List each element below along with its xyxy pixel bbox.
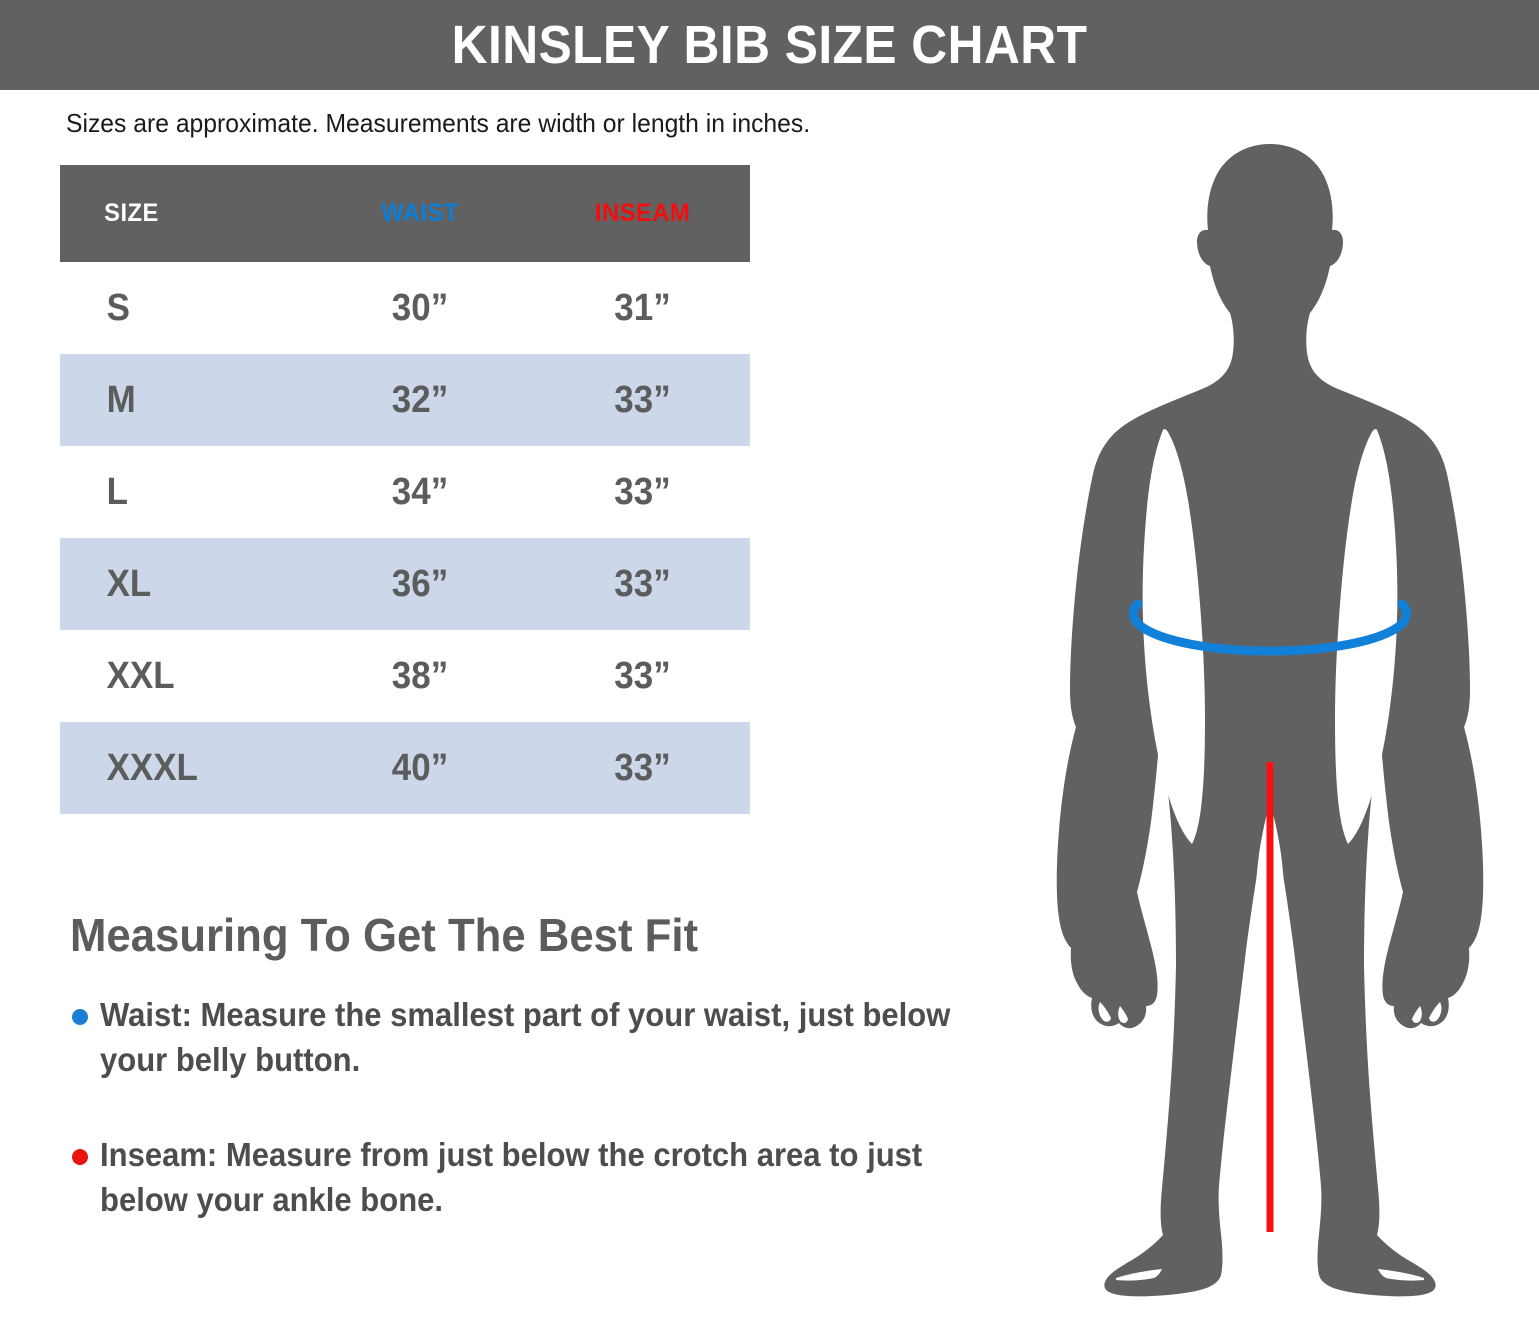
bullet-dot-icon	[72, 1149, 88, 1165]
cell-inseam: 33”	[544, 354, 742, 446]
table-row: XXXL 40” 33”	[60, 722, 750, 814]
measuring-tip-inseam-text: Inseam: Measure from just below the crot…	[100, 1132, 995, 1222]
measuring-tip-waist: Waist: Measure the smallest part of your…	[72, 992, 1052, 1082]
cell-inseam: 31”	[544, 262, 742, 354]
page-title: KINSLEY BIB SIZE CHART	[452, 18, 1088, 72]
cell-inseam: 33”	[544, 630, 742, 722]
cell-waist: 36”	[314, 538, 526, 630]
male-silhouette-svg	[1020, 130, 1520, 1315]
table-row: XXL 38” 33”	[60, 630, 750, 722]
table-body: S 30” 31” M 32” 33” L 34” 33” XL 36” 33”…	[60, 262, 750, 814]
cell-size: XL	[70, 538, 295, 630]
cell-waist: 38”	[314, 630, 526, 722]
page-header-bar: KINSLEY BIB SIZE CHART	[0, 0, 1539, 90]
cell-waist: 34”	[314, 446, 526, 538]
measuring-tip-inseam: Inseam: Measure from just below the crot…	[72, 1132, 1052, 1222]
table-row: S 30” 31”	[60, 262, 750, 354]
table-row: XL 36” 33”	[60, 538, 750, 630]
body-figure-illustration	[1020, 130, 1520, 1315]
measuring-section-heading: Measuring To Get The Best Fit	[70, 908, 698, 962]
measuring-tip-waist-text: Waist: Measure the smallest part of your…	[100, 992, 995, 1082]
cell-size: S	[70, 262, 295, 354]
table-header: SIZE WAIST INSEAM	[60, 165, 750, 262]
cell-waist: 32”	[314, 354, 526, 446]
bullet-dot-icon	[72, 1009, 88, 1025]
column-header-size: SIZE	[66, 165, 299, 262]
cell-size: XXXL	[70, 722, 295, 814]
table-row: M 32” 33”	[60, 354, 750, 446]
cell-inseam: 33”	[544, 446, 742, 538]
column-header-waist: WAIST	[311, 165, 530, 262]
cell-inseam: 33”	[544, 722, 742, 814]
size-chart-table: SIZE WAIST INSEAM S 30” 31” M 32” 33” L …	[60, 165, 750, 814]
cell-size: M	[70, 354, 295, 446]
cell-size: XXL	[70, 630, 295, 722]
table-row: L 34” 33”	[60, 446, 750, 538]
cell-waist: 40”	[314, 722, 526, 814]
table-header-row: SIZE WAIST INSEAM	[60, 165, 750, 262]
subtitle-note: Sizes are approximate. Measurements are …	[66, 108, 810, 139]
column-header-inseam: INSEAM	[540, 165, 744, 262]
cell-waist: 30”	[314, 262, 526, 354]
cell-inseam: 33”	[544, 538, 742, 630]
cell-size: L	[70, 446, 295, 538]
